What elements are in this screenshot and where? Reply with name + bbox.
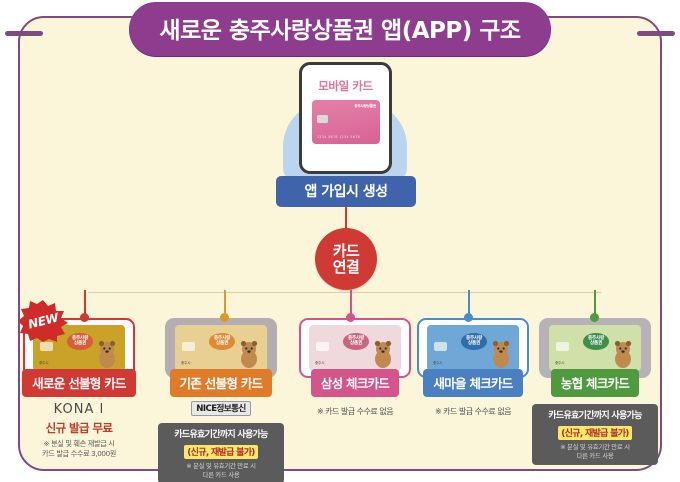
card-name-label: 기존 선불형 카드 xyxy=(170,369,273,397)
card-chip-icon xyxy=(316,342,329,351)
connector-dot-4 xyxy=(464,313,473,322)
card-fee-note: ※ 카드 발급 수수료 없음 xyxy=(317,406,393,417)
mascot-icon xyxy=(610,339,636,369)
card-chip-icon xyxy=(317,115,328,123)
card-validity-text: 카드유효기간까지 사용가능 xyxy=(535,408,655,421)
card-name-label: 새마을 체크카드 xyxy=(423,369,522,397)
infographic-root: 새로운 충주사랑상품권 앱(APP) 구조 모바일 카드 충주사랑상품권 123… xyxy=(0,0,680,482)
card-thumb-logo: 충주시 xyxy=(315,361,324,366)
card-link-line2: 연결 xyxy=(333,259,359,275)
mobile-card-heading: 모바일 카드 xyxy=(302,78,389,94)
card-validity-text: 카드유효기간까지 사용가능 xyxy=(161,427,281,440)
card-thumb-image: 충주시충주사랑상품권 xyxy=(175,325,267,371)
card-reissue-warning: (신규, 재발급 불가) xyxy=(558,426,631,440)
mobile-phone-illustration: 모바일 카드 충주사랑상품권 1234 5678 1234 5678 xyxy=(299,62,392,174)
mascot-icon xyxy=(94,339,120,369)
card-thumb-badge: 충주사랑상품권 xyxy=(67,333,93,350)
connector-horizontal-bus xyxy=(88,292,601,293)
card-thumb-logo: 충주시 xyxy=(39,361,48,366)
new-badge: NEW xyxy=(18,300,68,342)
card-chip-icon xyxy=(434,342,447,351)
card-thumb-image: 충주시충주사랑상품권 xyxy=(427,325,519,371)
card-info-box: 카드유효기간까지 사용가능(신규, 재발급 불가)※ 분실 및 유효기간 만료 … xyxy=(532,404,658,465)
card-option-5[interactable]: 충주시충주사랑상품권농협 체크카드카드유효기간까지 사용가능(신규, 재발급 불… xyxy=(534,318,656,465)
card-vendor-chip: NICE정보통신 xyxy=(191,401,250,416)
card-link-line1: 카드 xyxy=(333,243,359,259)
mobile-card-brand-text: 충주사랑상품권 xyxy=(354,104,376,109)
connector-dot-1 xyxy=(80,313,89,322)
card-name-label: 새로운 선불형 카드 xyxy=(22,369,136,397)
card-reissue-warning: (신규, 재발급 불가) xyxy=(184,445,257,459)
card-option-3[interactable]: 충주시충주사랑상품권삼성 체크카드※ 카드 발급 수수료 없음 xyxy=(294,318,416,417)
card-thumb-logo: 충주시 xyxy=(181,361,190,366)
mobile-card-image: 충주사랑상품권 1234 5678 1234 5678 xyxy=(312,100,380,144)
card-thumb-image: 충주시충주사랑상품권 xyxy=(549,325,641,371)
app-signup-label: 앱 가입시 생성 xyxy=(276,176,416,207)
card-option-4[interactable]: 충주시충주사랑상품권새마을 체크카드※ 카드 발급 수수료 없음 xyxy=(412,318,534,417)
card-thumb-badge: 충주사랑상품권 xyxy=(583,333,609,350)
title-banner: 새로운 충주사랑상품권 앱(APP) 구조 xyxy=(0,0,680,58)
connector-dot-5 xyxy=(590,313,599,322)
card-brand-text: KONA I xyxy=(54,402,105,417)
card-chip-icon xyxy=(40,342,53,351)
title-rule-left xyxy=(5,31,43,36)
connector-dot-2 xyxy=(220,313,229,322)
card-fine-note: ※ 분실 및 훼손 재발급 시카드 발급 수수료 3,000원 xyxy=(42,439,116,458)
card-name-label: 농협 체크카드 xyxy=(551,369,639,397)
card-thumb-logo: 충주시 xyxy=(433,361,442,366)
mascot-icon xyxy=(236,339,262,369)
connector-dot-3 xyxy=(346,313,355,322)
title-rule-right xyxy=(637,31,675,36)
card-name-label: 삼성 체크카드 xyxy=(311,369,399,397)
card-chip-icon xyxy=(556,342,569,351)
card-expiry-note: ※ 분실 및 유효기간 만료 시다른 카드 사용 xyxy=(161,462,281,479)
card-info-box: 카드유효기간까지 사용가능(신규, 재발급 불가)※ 분실 및 유효기간 만료 … xyxy=(158,423,284,482)
card-thumb-badge: 충주사랑상품권 xyxy=(461,333,487,350)
card-fee-note: ※ 카드 발급 수수료 없음 xyxy=(435,406,511,417)
card-thumb-badge: 충주사랑상품권 xyxy=(209,333,235,350)
mascot-icon xyxy=(488,339,514,369)
card-thumb-image: 충주시충주사랑상품권 xyxy=(309,325,401,371)
card-chip-icon xyxy=(182,342,195,351)
mascot-icon xyxy=(370,339,396,369)
mobile-card-number: 1234 5678 1234 5678 xyxy=(317,135,360,139)
card-expiry-note: ※ 분실 및 유효기간 만료 시다른 카드 사용 xyxy=(535,443,655,460)
card-thumb-badge: 충주사랑상품권 xyxy=(343,333,369,350)
page-title: 새로운 충주사랑상품권 앱(APP) 구조 xyxy=(129,2,550,56)
card-option-2[interactable]: 충주시충주사랑상품권기존 선불형 카드NICE정보통신카드유효기간까지 사용가능… xyxy=(160,318,282,482)
card-thumb-logo: 충주시 xyxy=(555,361,564,366)
card-link-node: 카드 연결 xyxy=(315,228,377,290)
card-fee-highlight: 신규 발급 무료 xyxy=(46,420,113,436)
